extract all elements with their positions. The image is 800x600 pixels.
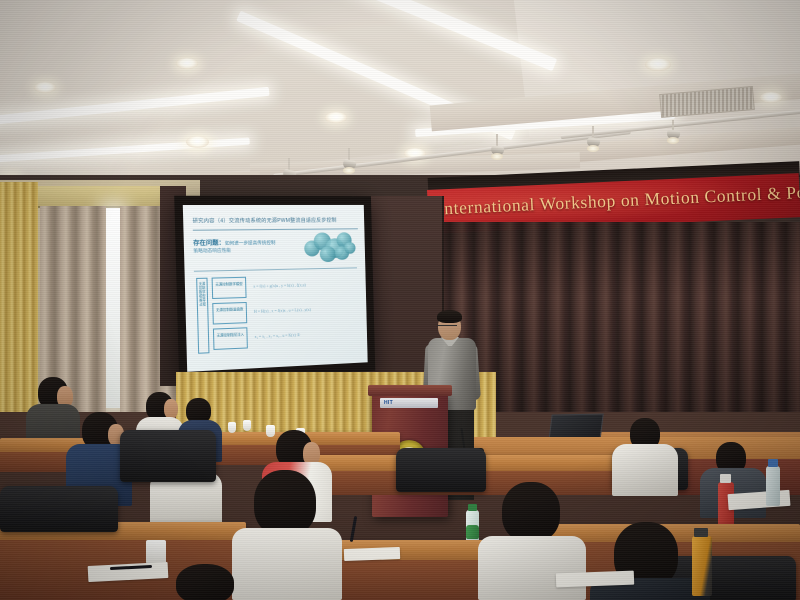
slide-table-label-column: 无源控制数学模型推导过程 (196, 278, 209, 354)
track-spotlight-glow (667, 137, 679, 144)
audience-body (612, 444, 678, 496)
chair-back (0, 486, 118, 532)
track-spotlight-glow (343, 167, 355, 174)
slide-table: 无源控制数学模型推导过程 无源控制数学模型 x = f(x) + g(x)u ,… (194, 267, 359, 344)
slide-cloud-graphic (302, 230, 356, 264)
foreground-audience-body (232, 528, 342, 600)
chair-back (396, 448, 486, 492)
ceiling-downlight (645, 58, 671, 71)
slide-table-cell: 无源控制数学模型 (212, 277, 247, 299)
slide-subheading-text: 存在问题： (193, 240, 225, 248)
slide-table-equation: H = H(x) , x = J(x)x , u = L(x) , y(x) (254, 305, 356, 313)
projection-screen-frame: 研究内容（4）交流传动系统的无源PWM整流自适应反步控制 存在问题：如何进一步提… (174, 196, 375, 382)
bottle-cap (694, 528, 708, 537)
foreground-audience-body (478, 536, 586, 600)
ceiling-downlight (760, 92, 782, 103)
speaker-glasses (437, 325, 457, 330)
ceiling-downlight (34, 82, 56, 93)
podium-nameplate-logo: HIT (384, 400, 393, 406)
wood-slat-panel-left (0, 182, 38, 430)
slide-title-row: 研究内容（4）交流传动系统的无源PWM整流自适应反步控制 (192, 217, 357, 231)
bottle-cap (468, 504, 477, 511)
slide-table-cell: 无源控制能量函数 (212, 302, 247, 325)
foreground-audience-head (176, 564, 234, 600)
water-bottle-label (466, 525, 479, 539)
slide-subheading-line2: 策略动态响应性能 (193, 248, 231, 255)
water-bottle-clear (766, 466, 780, 506)
ceiling-downlight (186, 136, 209, 148)
paper-cup (266, 425, 275, 437)
foreground-audience-head (254, 470, 316, 536)
chair-back (120, 430, 216, 482)
window-daylight-gap (106, 208, 121, 408)
handout-paper (344, 547, 400, 561)
slide-title: 研究内容（4）交流传动系统的无源PWM整流自适应反步控制 (192, 217, 357, 225)
paper-cup (228, 422, 236, 433)
track-spotlight-glow (491, 153, 503, 160)
ceiling-downlight (176, 58, 198, 69)
podium-nameplate: HIT (380, 398, 438, 408)
paper-cup (243, 420, 251, 431)
projection-screen: 研究内容（4）交流传动系统的无源PWM整流自适应反步控制 存在问题：如何进一步提… (183, 205, 368, 372)
bottle-cap (768, 459, 778, 467)
slide-table-cell: 无源控制阻尼注入 (213, 327, 248, 350)
lecture-hall-photo: International Workshop on Motion Control… (0, 0, 800, 600)
speaker-hair (437, 310, 462, 323)
handout-paper (556, 571, 634, 588)
ceiling-downlight (325, 112, 347, 123)
bottle-cap (720, 474, 731, 483)
orange-juice-bottle (692, 536, 712, 596)
slide-table-equation: x = f(x) + g(x)u , y = h(x) , ξ(x,u) (253, 281, 355, 289)
audience-face (164, 399, 178, 419)
slide-table-equation: x₁ = x₁ , x₂ = x₂ , u = K(x) ① (254, 330, 356, 339)
podium-top-surface (368, 385, 452, 396)
slide-subheading-note: 如何进一步提高传统控制 (225, 240, 276, 246)
track-spotlight-glow (587, 145, 599, 152)
foreground-audience-head (502, 482, 560, 542)
slide-subheading: 存在问题：如何进一步提高传统控制 (193, 237, 275, 247)
